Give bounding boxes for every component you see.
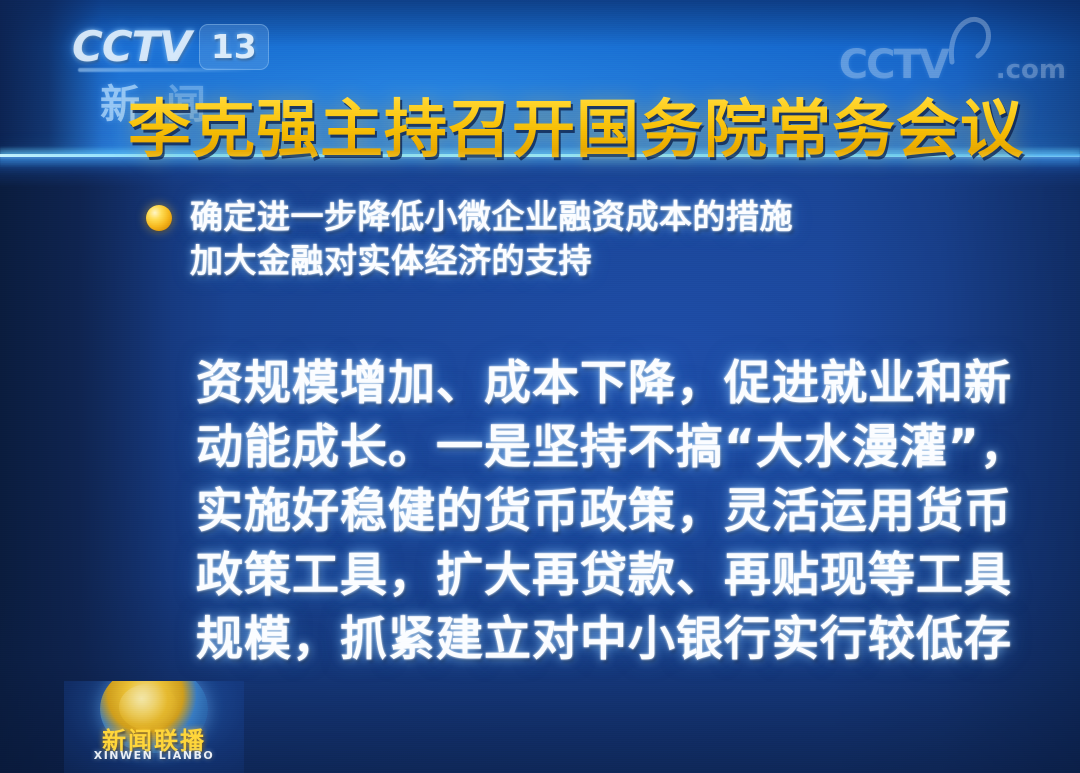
program-name-pinyin: XINWEN LIANBO [64,749,244,762]
bullet-item: 确定进一步降低小微企业融资成本的措施 加大金融对实体经济的支持 [146,196,793,281]
bullet-line: 加大金融对实体经济的支持 [190,240,793,282]
body-line: 动能成长。一是坚持不搞“大水漫灌”， [196,416,1028,480]
channel-number: 13 [211,27,257,66]
body-line: 实施好稳健的货币政策，灵活运用货币 [196,480,1028,544]
body-line: 政策工具，扩大再贷款、再贴现等工具 [196,544,1028,608]
channel-number-box: 13 [199,24,269,70]
bullet-dot-icon [146,205,172,231]
broadcast-frame: 新 闻 CCTV 13 CCTV .com 李克强主持召开国务院常务会议 确定进… [0,0,1080,773]
bullet-line: 确定进一步降低小微企业融资成本的措施 [190,196,793,238]
bullet-text-block: 确定进一步降低小微企业融资成本的措施 加大金融对实体经济的支持 [190,196,793,281]
body-paragraph: 资规模增加、成本下降，促进就业和新 动能成长。一是坚持不搞“大水漫灌”， 实施好… [196,352,1028,672]
xinwen-lianbo-logo: 新闻联播 XINWEN LIANBO [64,681,244,773]
body-line: 资规模增加、成本下降，促进就业和新 [196,352,1028,416]
page-title: 李克强主持召开国务院常务会议 [128,79,1024,170]
cctv-swoosh-icon [942,28,994,78]
body-line: 规模，抓紧建立对中小银行实行较低存 [196,608,1028,672]
cctv13-channel-logo: CCTV 13 [72,22,269,71]
cctv-wordmark: CCTV [72,22,191,71]
